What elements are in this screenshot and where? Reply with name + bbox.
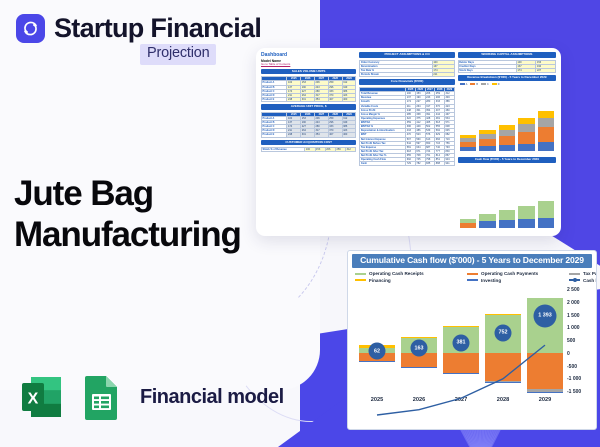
data-label-2029: 1 393 [534,304,557,327]
y-tick: 2 500 [567,287,593,293]
panel-header-working-capital: WORKING CAPITAL ASSUMPTIONS [458,52,556,58]
y-tick: -500 [567,364,593,370]
format-badges: X Financial model [18,372,284,422]
data-label-2028: 752 [495,324,512,341]
table-working-capital: Debtor Days100153Creditor Days137190Stoc… [458,60,556,73]
microsoft-excel-icon: X [18,372,68,422]
legend-item-investing[interactable]: Investing [467,278,567,283]
y-tick: 1 500 [567,313,593,319]
dashboard-column-left: Dashboard Model Name Go to Table of Cont… [261,52,356,232]
legend-item-cash-balance[interactable]: Cash balance [569,278,597,283]
y-tick: -1 000 [567,376,593,382]
legend-label: Financing [369,278,391,283]
brand-badge: Projection [140,44,216,65]
data-label-2027: 381 [453,334,470,351]
mini-chart-revenue [458,88,556,155]
legend-item-financing[interactable]: Financing [355,278,465,283]
cash-balance-line [356,287,566,430]
legend-label: Investing [481,278,501,283]
chart-title: Cumulative Cash flow ($'000) - 5 Years t… [352,254,592,268]
table-project-assumptions: Order Currency100Denomination137Tax Rate… [359,60,454,78]
brand-lockup: Startup Financial [16,14,261,43]
panel-header-cash-flow: Cash flow ($'000) - 5 Years to December … [458,157,556,163]
panel-header-cac: CUSTOMER ACQUISITION COST [261,140,356,146]
brand-name: Startup Financial [54,15,261,42]
table-sales-volume: 20252026202720282029Product A10015320625… [261,76,356,102]
y-tick: 500 [567,338,593,344]
svg-text:X: X [28,391,39,408]
y-tick: 1 000 [567,325,593,331]
panel-header-sales-volume: SALES VOLUME UNITS [261,69,356,75]
mini-chart-cashflow [458,165,556,232]
chart-legend: Operating Cash Receipts Operating Cash P… [348,268,596,284]
table-unit-price: 20252026202720282029Product A10015320625… [261,112,356,138]
y-tick: -1 500 [567,389,593,395]
panel-header-core-financials: Core Financials ($'000) [359,79,454,85]
panel-header-project-assumptions: PROJECT ASSUMPTIONS & CO [359,52,454,58]
data-label-2026: 163 [411,340,428,357]
dashboard-column-mid: PROJECT ASSUMPTIONS & CO Order Currency1… [359,52,454,232]
legend-label: Tax Payment [583,271,597,276]
cumulative-cashflow-chart: Cumulative Cash flow ($'000) - 5 Years t… [347,250,597,430]
legend-item-operating-cash-receipts[interactable]: Operating Cash Receipts [355,271,465,276]
swirl-e-logo-icon [16,14,45,43]
dashboard-preview-card: Dashboard Model Name Go to Table of Cont… [256,48,561,236]
legend-item-operating-cash-payments[interactable]: Operating Cash Payments [467,271,567,276]
table-cac: SG&A % of Revenue100153206259312 [261,147,356,152]
page-title: Jute Bag Manufacturing [14,174,294,256]
dashboard-toc-link[interactable]: Go to Table of Contents [261,63,356,67]
data-label-2025: 62 [369,343,386,360]
poster-canvas: Startup Financial Projection Jute Bag Ma… [0,0,600,447]
legend-label: Operating Cash Receipts [369,271,424,276]
chart-plot-area: 621633817521 393 [356,287,566,393]
panel-header-revenue-breakdown: Revenue Breakdown ($'000) - 5 Years to D… [458,75,556,81]
legend-label: Operating Cash Payments [481,271,538,276]
dashboard-column-right: WORKING CAPITAL ASSUMPTIONS Debtor Days1… [458,52,556,232]
format-label: Financial model [140,386,284,409]
y-tick: 0 [567,351,593,357]
table-core-financials: 20252026202720282029Total Revenue1001532… [359,87,454,166]
google-sheets-icon [80,372,124,422]
mini-chart-legend-revenue: A B C D [458,83,556,86]
legend-item-tax-payment[interactable]: Tax Payment [569,271,597,276]
panel-header-unit-price: AVERAGE UNIT PRICE, $ [261,104,356,110]
legend-label: Cash balance [583,278,597,283]
chart-y-axis: 2 5002 0001 5001 0005000-500-1 000-1 500 [567,287,593,395]
y-tick: 2 000 [567,300,593,306]
